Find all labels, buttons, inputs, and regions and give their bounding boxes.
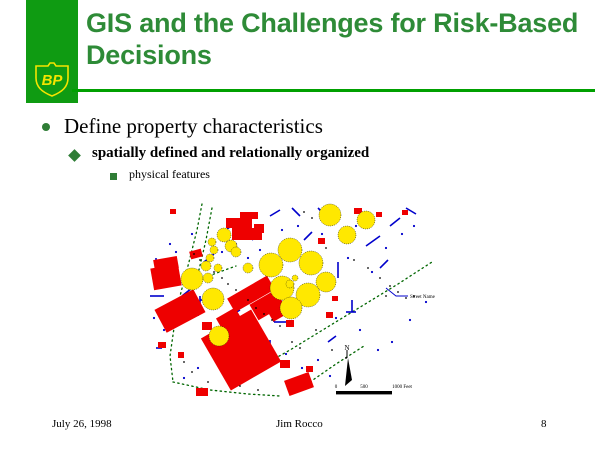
svg-text:BP: BP [42, 72, 64, 89]
north-arrow-icon: N [344, 344, 352, 386]
bullet-level2-text: spatially defined and relationally organ… [92, 145, 369, 162]
gis-site-map: N 0 500 1000 Feet Street Name [140, 200, 445, 400]
footer-author: Jim Rocco [276, 418, 323, 430]
bullet-level3-text: physical features [129, 168, 210, 182]
footer-date: July 26, 1998 [52, 418, 112, 430]
slide: BP GIS and the Challenges for Risk-Based… [0, 0, 600, 450]
street-label-text: Street Name [410, 295, 436, 300]
round-bullet-icon [42, 123, 50, 131]
diamond-bullet-icon [68, 149, 81, 162]
scale-bar: 0 500 1000 Feet [335, 385, 413, 394]
scale-label-0: 0 [335, 385, 338, 390]
list-item: Define property characteristics [0, 114, 600, 138]
list-item: spatially defined and relationally organ… [0, 145, 600, 162]
page-title: GIS and the Challenges for Risk-Based De… [86, 8, 586, 72]
footer-page-number: 8 [541, 418, 547, 430]
title-divider [72, 89, 595, 92]
bullet-list: Define property characteristics spatiall… [0, 114, 600, 182]
title-block: GIS and the Challenges for Risk-Based De… [86, 8, 586, 72]
north-arrow-label: N [344, 344, 349, 352]
slide-footer: July 26, 1998 Jim Rocco 8 [0, 418, 600, 440]
bp-shield-icon: BP [32, 60, 72, 98]
brand-panel: BP [26, 0, 78, 103]
bullet-level1-text: Define property characteristics [64, 114, 323, 138]
scale-label-max: 1000 Feet [392, 385, 412, 390]
scale-label-mid: 500 [360, 385, 368, 390]
square-bullet-icon [110, 173, 117, 180]
list-item: physical features [0, 168, 600, 182]
street-label: Street Name [386, 288, 436, 300]
